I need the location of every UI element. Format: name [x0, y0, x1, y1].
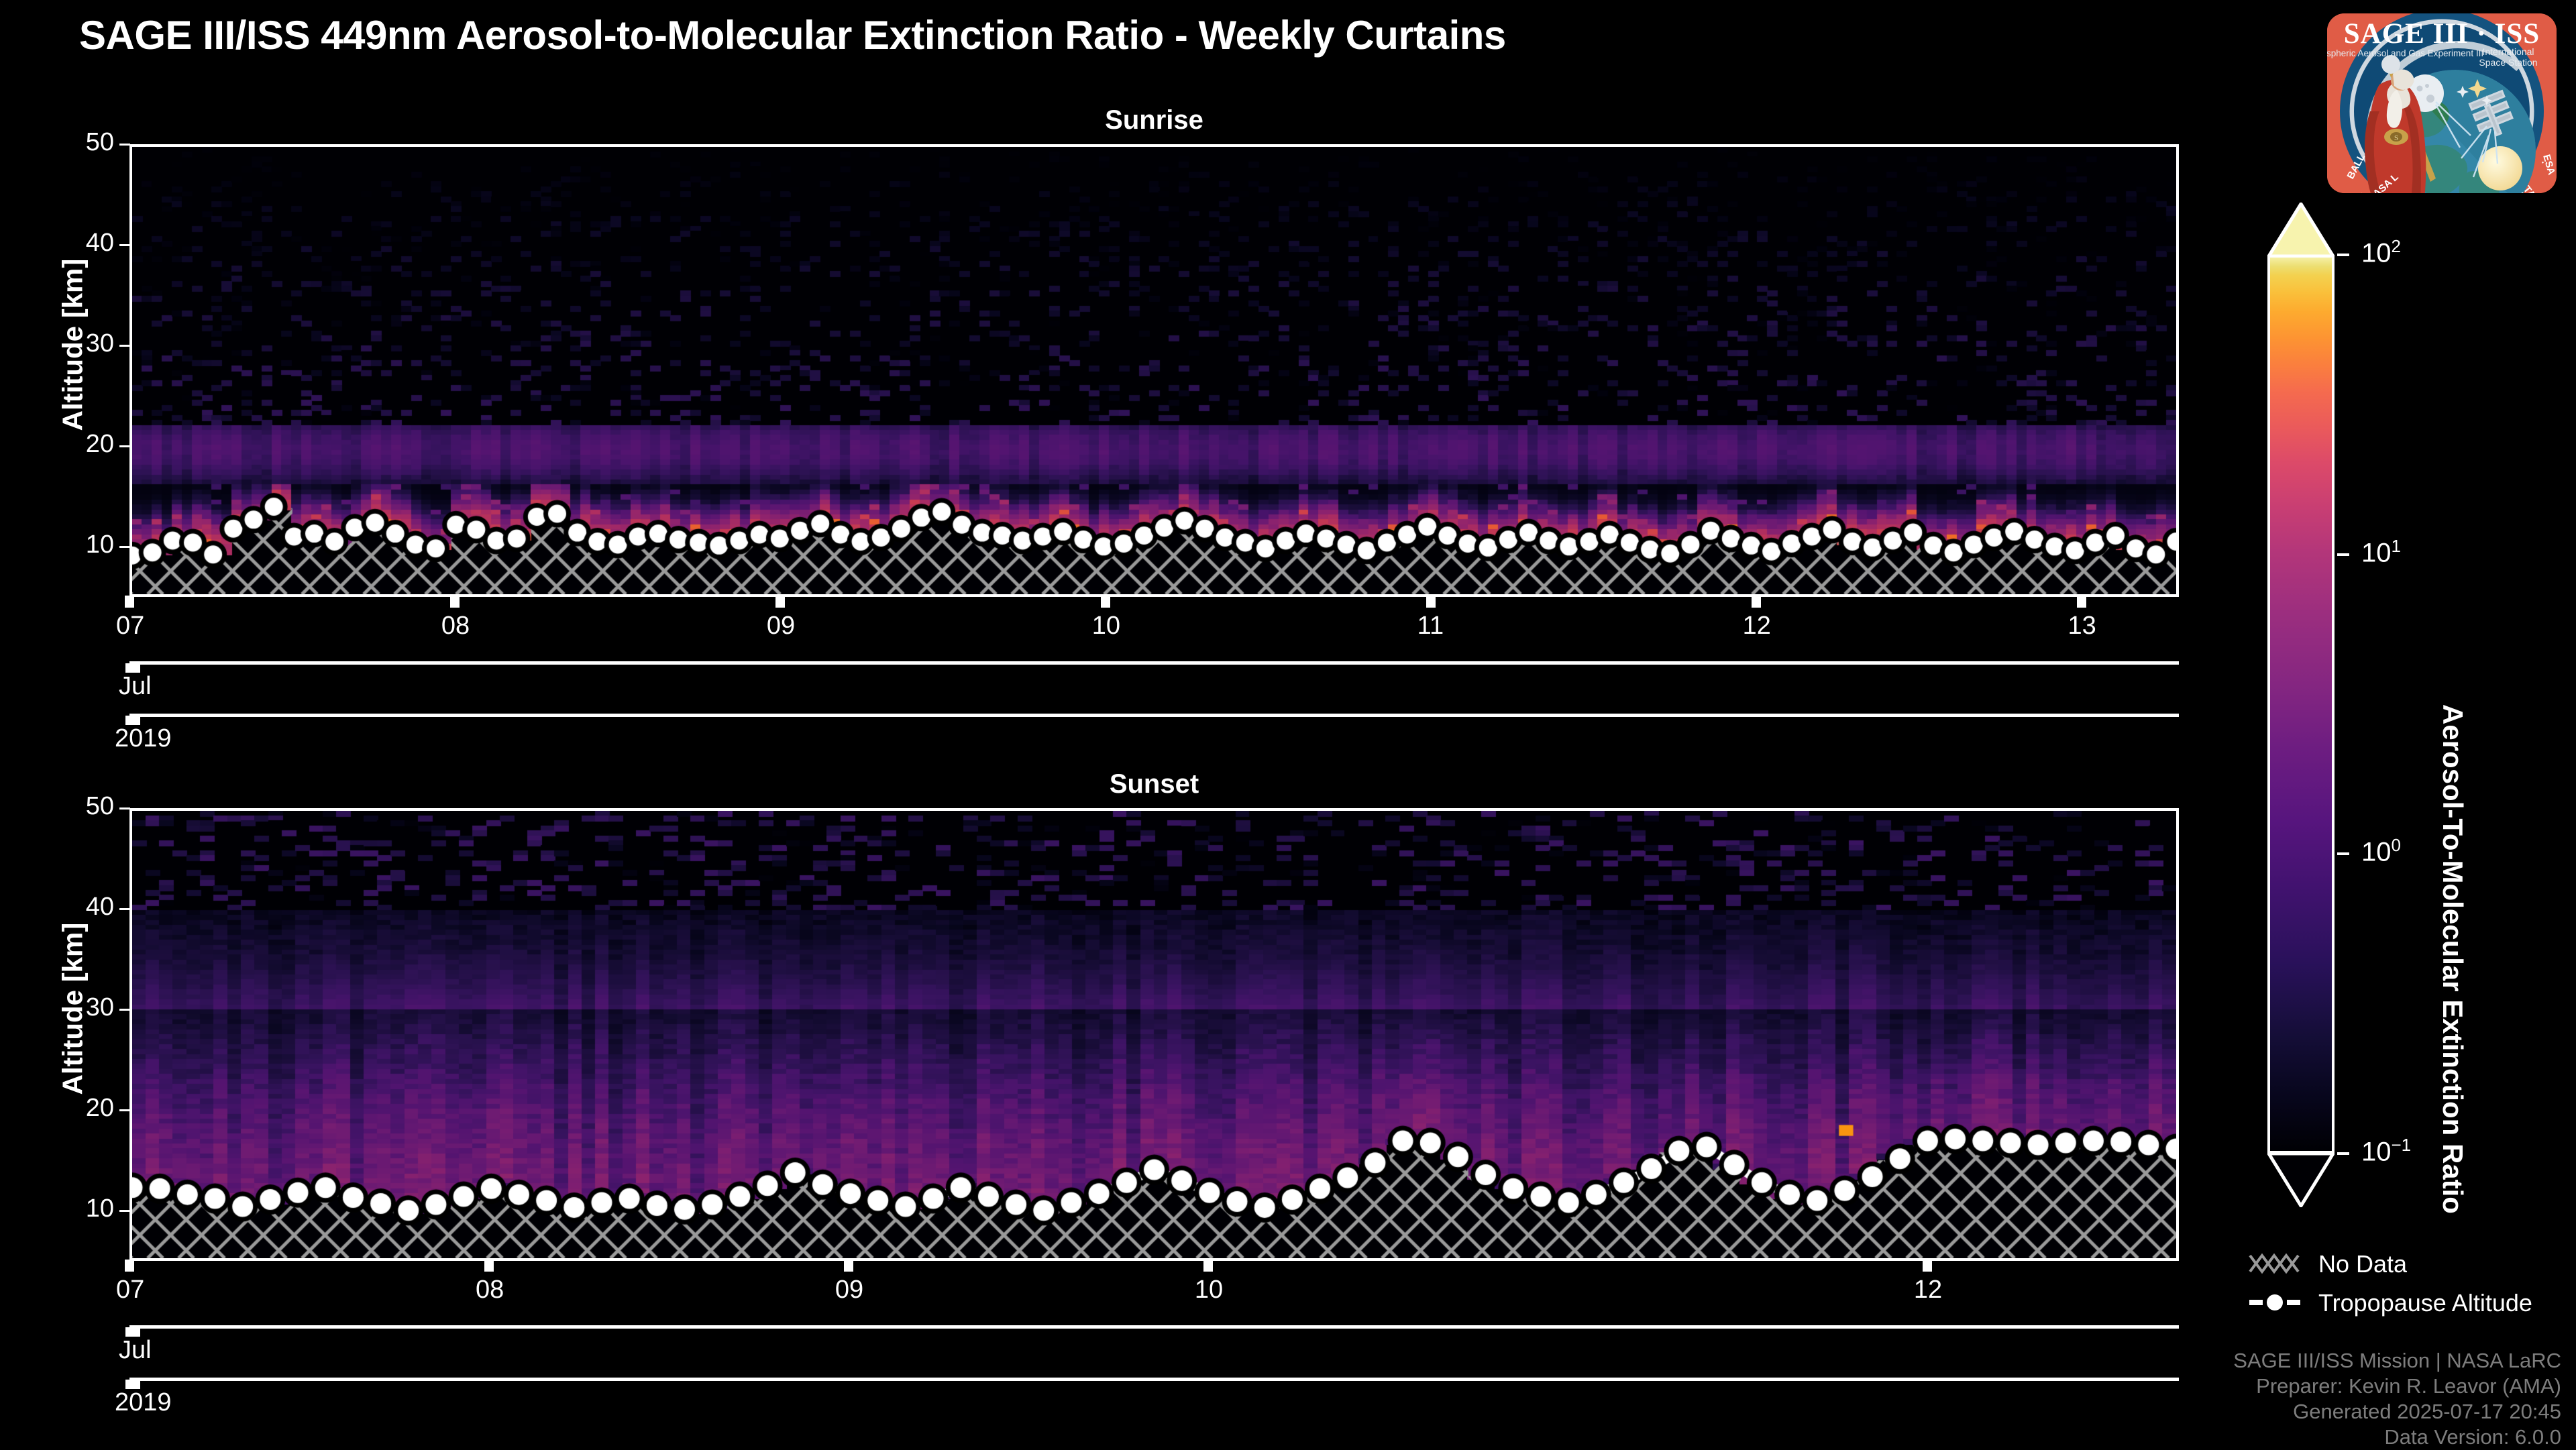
- y-tick-label: 10: [54, 1194, 114, 1223]
- x-tick-mark: [125, 1260, 134, 1272]
- x-tick-label: 08: [441, 612, 470, 640]
- y-tick-label: 40: [54, 893, 114, 922]
- svg-text:SAGE III · ISS: SAGE III · ISS: [2344, 18, 2540, 50]
- footer-line-generated: Generated 2025-07-17 20:45: [2233, 1399, 2561, 1425]
- x-tick-label: 09: [767, 612, 795, 640]
- svg-text:S: S: [2394, 134, 2398, 142]
- colorbar-gradient: [2267, 255, 2334, 1154]
- sunset-panel-title: Sunset: [129, 769, 2179, 799]
- x-axis-year-mark: [125, 716, 140, 725]
- colorbar-max-arrow: [2267, 203, 2334, 258]
- svg-text:Stratospheric Aerosol and Gas: Stratospheric Aerosol and Gas Experiment…: [2318, 48, 2483, 58]
- x-axis-month-label: Jul: [119, 1336, 152, 1365]
- y-tick-label: 50: [54, 128, 114, 157]
- x-tick-mark: [1752, 596, 1761, 608]
- sunrise-panel-title: Sunrise: [129, 105, 2179, 135]
- sunrise-panel: Sunrise: [129, 144, 2179, 597]
- y-tick-mark: [119, 908, 130, 910]
- colorbar-tick-mark: [2337, 254, 2349, 256]
- x-tick-mark: [125, 596, 134, 608]
- page-title: SAGE III/ISS 449nm Aerosol-to-Molecular …: [79, 12, 1506, 58]
- x-axis-year-label: 2019: [115, 1388, 172, 1417]
- y-tick-mark: [119, 1210, 130, 1212]
- x-axis-year-label: 2019: [115, 724, 172, 753]
- y-tick-label: 30: [54, 329, 114, 358]
- colorbar-axis-title: Aerosol-To-Molecular Extinction Ratio: [2436, 704, 2469, 1214]
- x-tick-label: 11: [1417, 612, 1444, 640]
- x-tick-mark: [1923, 1260, 1932, 1272]
- y-tick-mark: [119, 445, 130, 447]
- footer-line-preparer: Preparer: Kevin R. Leavor (AMA): [2233, 1374, 2561, 1399]
- y-tick-mark: [119, 807, 130, 810]
- x-axis-month-mark: [125, 1327, 140, 1337]
- mission-patch-icon: S BALL · NASA L TER · TAS-I · ESA SAGE I…: [2318, 4, 2566, 205]
- svg-text:TER: TER: [2495, 198, 2518, 205]
- footer-credits: SAGE III/ISS Mission | NASA LaRC Prepare…: [2233, 1348, 2561, 1450]
- y-tick-mark: [119, 1109, 130, 1111]
- colorbar-tick-label: 100: [2361, 835, 2401, 867]
- x-axis-month-mark: [125, 663, 140, 673]
- x-tick-label: 07: [116, 612, 144, 640]
- x-tick-mark: [484, 1260, 494, 1272]
- colorbar-tick-label: 102: [2361, 236, 2401, 268]
- x-tick-label: 10: [1195, 1276, 1223, 1304]
- dashed-marker-icon: [2249, 1288, 2301, 1317]
- y-tick-mark: [119, 546, 130, 548]
- sunset-panel: Sunset: [129, 808, 2179, 1261]
- colorbar-min-arrow: [2267, 1152, 2334, 1207]
- x-tick-label: 08: [476, 1276, 504, 1304]
- colorbar-tick-label: 10−1: [2361, 1135, 2411, 1167]
- y-tick-label: 20: [54, 1094, 114, 1123]
- svg-text:International: International: [2482, 46, 2534, 57]
- x-tick-mark: [450, 596, 460, 608]
- y-tick-mark: [119, 1009, 130, 1011]
- x-tick-mark: [1426, 596, 1436, 608]
- x-tick-label: 07: [116, 1276, 144, 1304]
- legend-item-no-data[interactable]: No Data: [2249, 1249, 2564, 1281]
- hatch-x-icon: [2249, 1249, 2301, 1278]
- y-tick-mark: [119, 244, 130, 246]
- footer-line-mission: SAGE III/ISS Mission | NASA LaRC: [2233, 1348, 2561, 1374]
- x-axis-year-rule: [129, 1378, 2179, 1381]
- x-axis-month-rule: [129, 661, 2179, 665]
- y-tick-label: 20: [54, 430, 114, 459]
- sunset-plot-area[interactable]: [129, 808, 2179, 1261]
- colorbar-tick-mark: [2337, 553, 2349, 556]
- x-tick-label: 13: [2068, 612, 2096, 640]
- x-tick-label: 12: [1743, 612, 1771, 640]
- x-axis-year-mark: [125, 1380, 140, 1389]
- colorbar-tick-mark: [2337, 1152, 2349, 1155]
- x-tick-mark: [775, 596, 785, 608]
- x-tick-mark: [844, 1260, 853, 1272]
- sunrise-plot-area[interactable]: [129, 144, 2179, 597]
- legend-label-tropopause: Tropopause Altitude: [2318, 1289, 2532, 1317]
- x-tick-mark: [2077, 596, 2086, 608]
- y-tick-label: 10: [54, 531, 114, 559]
- sage-iii-iss-mission-logo: S BALL · NASA L TER · TAS-I · ESA SAGE I…: [2318, 4, 2566, 205]
- colorbar-tick-label: 101: [2361, 536, 2401, 568]
- y-tick-label: 30: [54, 993, 114, 1022]
- x-axis-month-rule: [129, 1325, 2179, 1329]
- y-tick-label: 50: [54, 792, 114, 821]
- x-axis-month-label: Jul: [119, 672, 152, 701]
- svg-text:Space Station: Space Station: [2479, 57, 2537, 68]
- legend-label-no-data: No Data: [2318, 1250, 2407, 1278]
- colorbar[interactable]: 10210110010−1 Aerosol-To-Molecular Extin…: [2267, 201, 2348, 1207]
- legend-item-tropopause[interactable]: Tropopause Altitude: [2249, 1288, 2564, 1320]
- footer-line-version: Data Version: 6.0.0: [2233, 1425, 2561, 1450]
- x-tick-label: 09: [835, 1276, 863, 1304]
- x-tick-label: 12: [1914, 1276, 1942, 1304]
- x-tick-mark: [1203, 1260, 1213, 1272]
- y-tick-mark: [119, 144, 130, 146]
- sunrise-heatmap-canvas: [132, 147, 2176, 594]
- y-tick-mark: [119, 345, 130, 347]
- y-tick-label: 40: [54, 229, 114, 258]
- x-tick-mark: [1101, 596, 1110, 608]
- legend: No Data Tropopause Altitude: [2249, 1249, 2564, 1327]
- x-tick-label: 10: [1092, 612, 1120, 640]
- sunset-heatmap-canvas: [132, 811, 2176, 1258]
- x-axis-year-rule: [129, 714, 2179, 717]
- colorbar-tick-mark: [2337, 852, 2349, 855]
